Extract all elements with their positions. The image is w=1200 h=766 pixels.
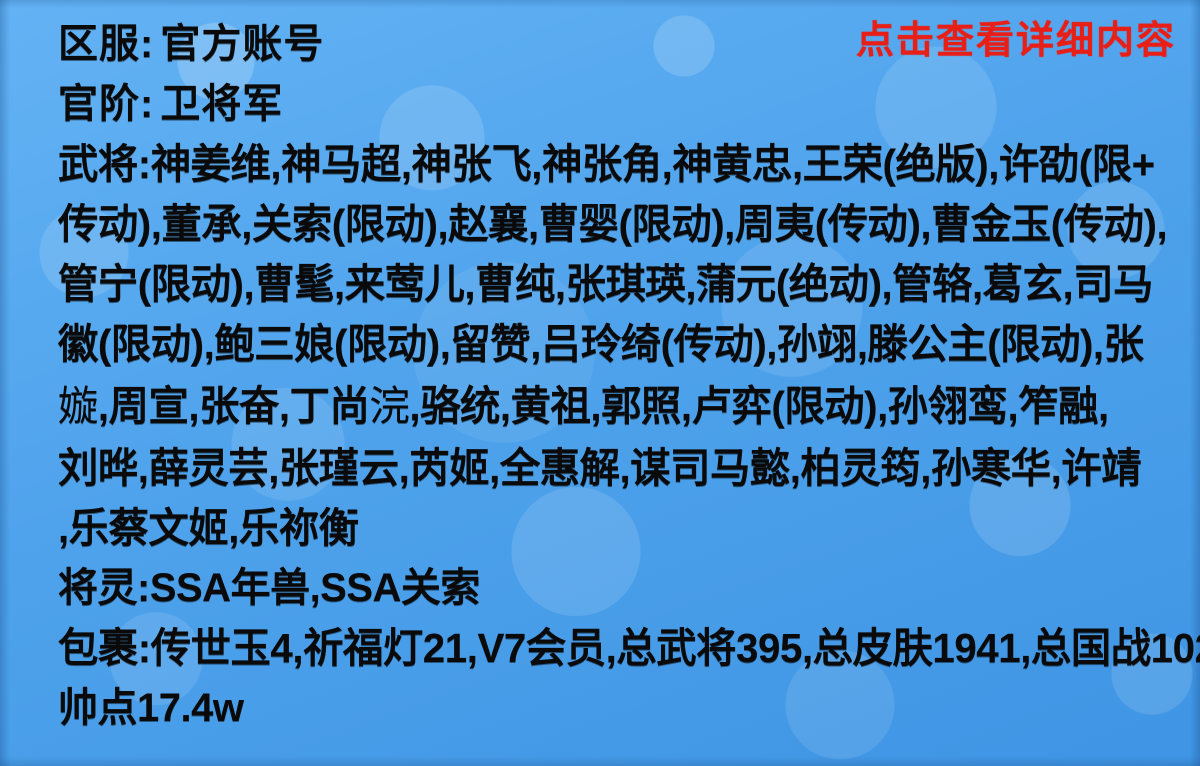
generals-line-5: 嫙,周宣,张奋,丁尚浣,骆统,黄祖,郭照,卢弈(限动),孙翎鸾,笮融,: [58, 374, 1165, 438]
generals-line-4: 徽(限动),鲍三娘(限动),留赞,吕玲绮(传动),孙翊,滕公主(限动),张: [58, 314, 1165, 374]
package-line-2: 帅点17.4w: [58, 678, 1182, 738]
rank-value: 卫将军: [160, 82, 283, 126]
generals-line-2: 传动),董承,关索(限动),赵襄,曹婴(限动),周夷(传动),曹金玉(传动),: [58, 194, 1165, 254]
account-info-body: 区服:官方账号 官阶:卫将军 武将:神姜维,神马超,神张飞,神张角,神黄忠,王荣…: [0, 0, 1200, 738]
general-name-zhang-xuan: 嫙: [58, 383, 98, 429]
rank-row: 官阶:卫将军: [58, 74, 1182, 134]
general-name-ding-shang-huan: 浣: [369, 383, 409, 429]
spirits-row: 将灵:SSA年兽,SSA关索: [58, 558, 1182, 618]
click-for-details-banner[interactable]: 点击查看详细内容: [856, 22, 1176, 60]
generals-line-1: 武将:神姜维,神马超,神张飞,神张角,神黄忠,王荣(绝版),许劭(限+: [58, 134, 1165, 194]
generals-line-7: ,乐蔡文姬,乐祢衡: [58, 498, 1165, 558]
generals-line-6: 刘晔,薛灵芸,张瑾云,芮姬,全惠解,谋司马懿,柏灵筠,孙寒华,许靖: [58, 438, 1165, 498]
package-line-1: 包裹:传世玉4,祈福灯21,V7会员,总武将395,总皮肤1941,总国战102…: [58, 618, 1165, 678]
server-value: 官方账号: [160, 22, 324, 66]
account-info-screenshot: 点击查看详细内容 区服:官方账号 官阶:卫将军 武将:神姜维,神马超,神张飞,神…: [0, 0, 1200, 766]
generals-line-5-mid: ,周宣,张奋,丁尚: [98, 383, 370, 429]
generals-line-5-tail: ,骆统,黄祖,郭照,卢弈(限动),孙翎鸾,笮融,: [409, 383, 1108, 429]
generals-line-3: 管宁(限动),曹髦,来莺儿,曹纯,张琪瑛,蒲元(绝动),管辂,葛玄,司马: [58, 254, 1165, 314]
rank-label: 官阶:: [58, 82, 154, 126]
server-label: 区服:: [58, 22, 154, 66]
